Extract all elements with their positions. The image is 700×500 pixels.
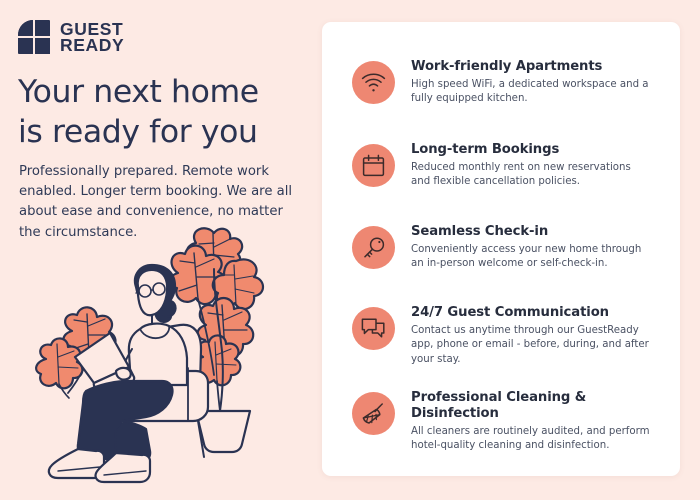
feature-item-long-term-bookings[interactable]: Long-term Bookings Reduced monthly rent … [352,142,652,190]
features-card: Work-friendly Apartments High speed WiFi… [322,22,680,476]
feature-item-seamless-check-in[interactable]: Seamless Check-in Conveniently access yo… [352,224,652,272]
page-title: Your next home is ready for you [18,72,318,153]
brand-name-line2: READY [60,37,124,53]
feature-title: Long-term Bookings [411,142,652,158]
feature-text: 24/7 Guest Communication Contact us anyt… [411,305,652,367]
feature-description: All cleaners are routinely audited, and … [411,425,652,454]
key-icon [352,226,395,269]
feature-description: Reduced monthly rent on new reservations… [411,161,652,190]
feature-description: Conveniently access your new home throug… [411,243,652,272]
feature-text: Seamless Check-in Conveniently access yo… [411,224,652,272]
chat-bubbles-icon [352,307,395,350]
feature-text: Professional Cleaning & Disinfection All… [411,390,652,454]
feature-description: Contact us anytime through our GuestRead… [411,324,652,367]
feature-item-work-friendly-apartments[interactable]: Work-friendly Apartments High speed WiFi… [352,59,652,107]
feature-text: Long-term Bookings Reduced monthly rent … [411,142,652,190]
brand-wordmark: GUEST READY [60,21,124,54]
feature-description: High speed WiFi, a dedicated workspace a… [411,78,652,107]
hero-column: GUEST READY Your next home is ready for … [0,0,320,500]
feature-item-professional-cleaning[interactable]: Professional Cleaning & Disinfection All… [352,390,652,454]
feature-title: 24/7 Guest Communication [411,305,652,321]
guestready-quadrant-mark-icon [17,19,51,55]
feature-text: Work-friendly Apartments High speed WiFi… [411,59,652,107]
feature-title: Professional Cleaning & Disinfection [411,390,652,422]
features-list: Work-friendly Apartments High speed WiFi… [322,22,680,476]
broom-icon [352,392,395,435]
feature-title: Work-friendly Apartments [411,59,652,75]
hero-illustration [28,225,313,487]
feature-item-guest-communication[interactable]: 24/7 Guest Communication Contact us anyt… [352,305,652,367]
brand-logo[interactable]: GUEST READY [17,19,124,55]
wifi-icon [352,61,395,104]
feature-title: Seamless Check-in [411,224,652,240]
promo-page: GUEST READY Your next home is ready for … [0,0,700,500]
calendar-icon [352,144,395,187]
